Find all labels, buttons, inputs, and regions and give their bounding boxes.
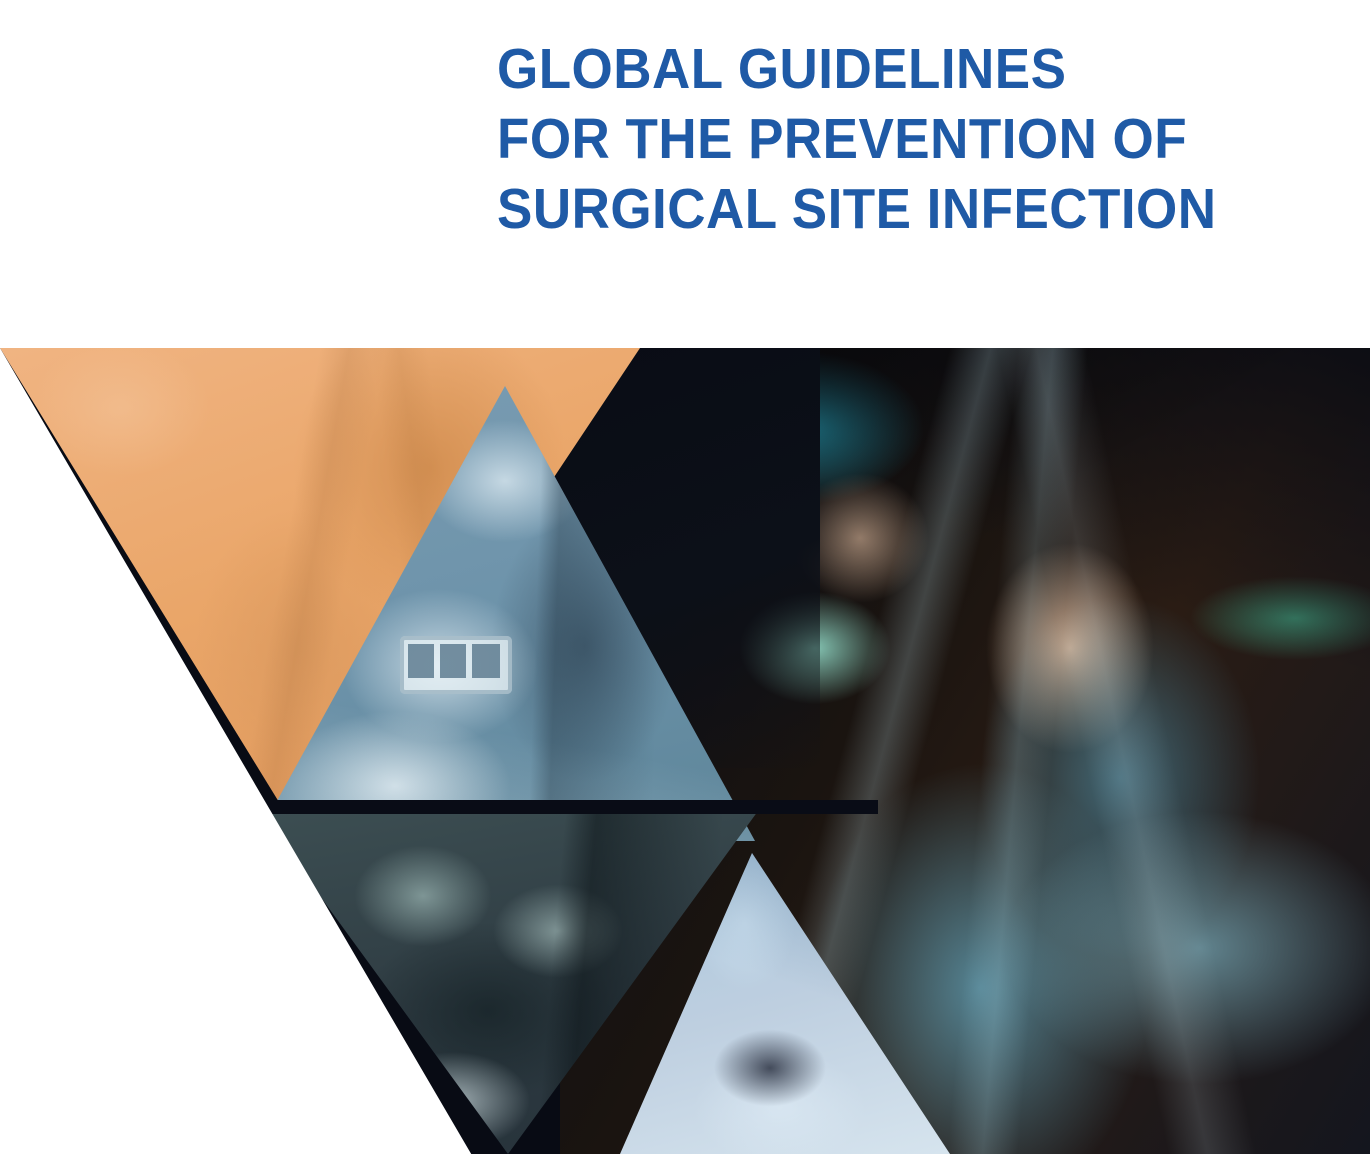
cover-artwork: [0, 348, 1370, 1154]
page-title: GLOBAL GUIDELINES FOR THE PREVENTION OF …: [497, 34, 1257, 244]
title-line-1: GLOBAL GUIDELINES: [497, 34, 1204, 104]
panel-divider: [258, 800, 878, 814]
ventilator-monitor-icon: [400, 636, 512, 694]
document-cover: GLOBAL GUIDELINES FOR THE PREVENTION OF …: [0, 0, 1370, 1154]
title-line-3: SURGICAL SITE INFECTION: [497, 174, 1204, 244]
title-line-2: FOR THE PREVENTION OF: [497, 104, 1204, 174]
